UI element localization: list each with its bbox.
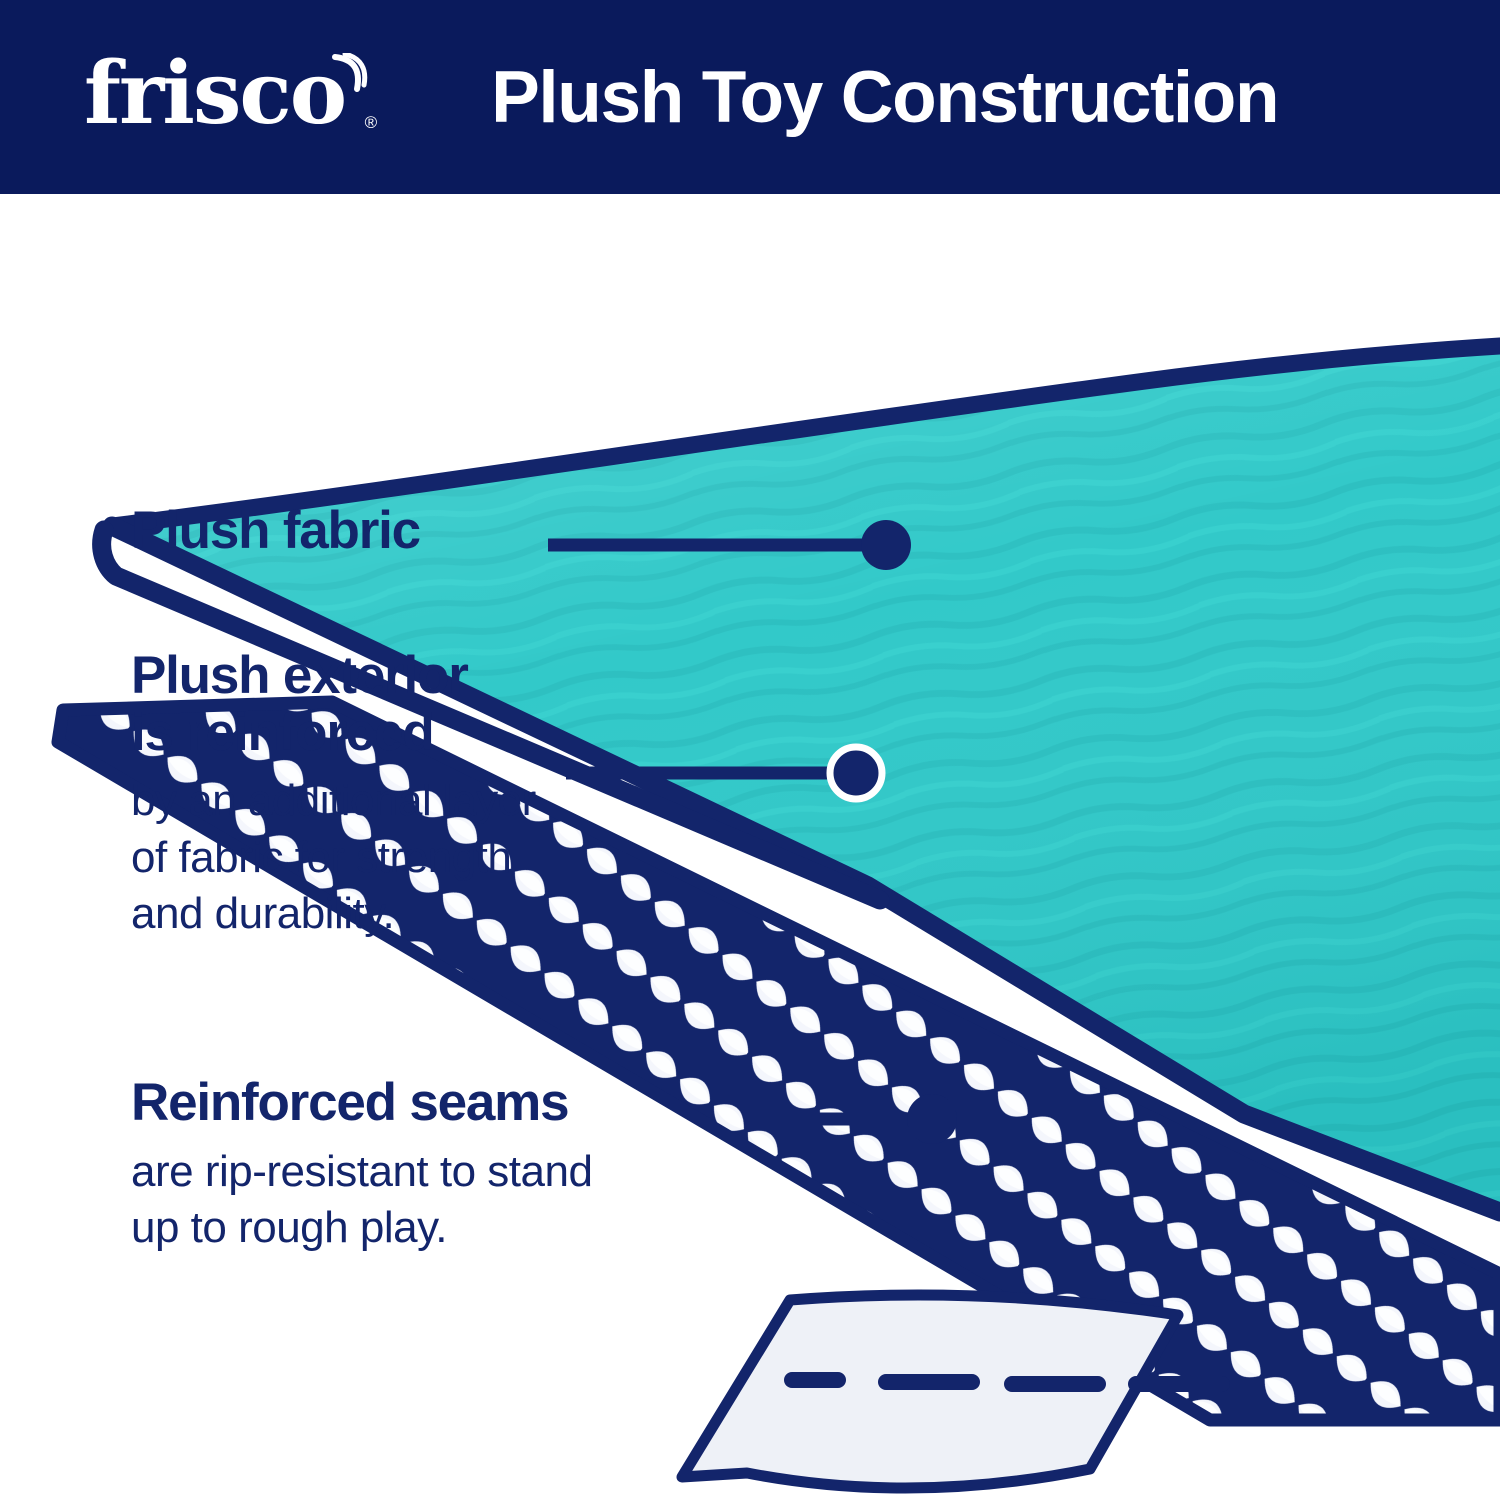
header-bar: frisco ® Plush Toy Construction [0,0,1500,194]
callout-headline: Plush exterior is reinforced [131,648,536,761]
pointer-dot-reinforced-seams [907,1094,957,1144]
callout-headline: Plush fabric [131,503,420,560]
callout-plush-fabric: Plush fabric [131,503,420,560]
callout-plush-exterior: Plush exterior is reinforced by an addit… [131,648,536,942]
callout-body: are rip-resistant to stand up to rough p… [131,1144,592,1257]
pointer-dot-plush-exterior [830,747,882,799]
registered-trademark-mark: ® [365,114,376,131]
page-title: Plush Toy Construction [491,56,1278,139]
callout-body: by an additional layer of fabric for str… [131,773,536,942]
pointer-dot-plush-fabric [861,520,911,570]
seam-flap [682,1295,1222,1488]
callout-reinforced-seams: Reinforced seams are rip-resistant to st… [131,1075,592,1256]
callout-headline: Reinforced seams [131,1075,592,1132]
frisco-logo: frisco ® [84,51,345,137]
brand-wordmark: frisco [84,43,345,144]
